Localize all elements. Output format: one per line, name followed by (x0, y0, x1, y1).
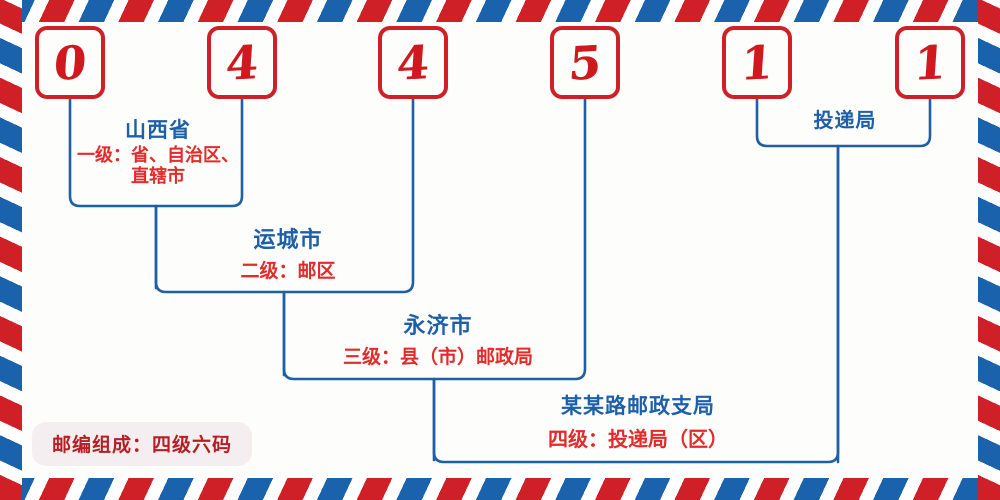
level-3-title: 永济市 (288, 308, 588, 340)
level-4-label-group: 某某路邮政支局 四级：投递局（区） (436, 390, 840, 452)
level-1-label-group: 山西省 一级：省、自治区、直辖市 (72, 114, 244, 187)
level-2-label-group: 运城市 二级：邮区 (160, 222, 416, 283)
postcode-digit-6: 1 (912, 39, 947, 87)
postcode-composition-badge: 邮编组成：四级六码 (32, 422, 252, 466)
postcode-digit-5: 1 (739, 39, 774, 87)
postcode-digit-4: 5 (567, 39, 602, 87)
postcode-digit-box-6[interactable]: 1 (895, 26, 965, 99)
delivery-office-label-group: 投递局 (760, 104, 930, 133)
postcode-digit-box-2[interactable]: 4 (207, 26, 277, 99)
level-1-title: 山西省 (72, 114, 244, 144)
level-3-label-group: 永济市 三级：县（市）邮政局 (288, 308, 588, 369)
level-2-title: 运城市 (160, 222, 416, 254)
postcode-digit-1: 0 (52, 39, 87, 87)
level-1-subtitle: 一级：省、自治区、直辖市 (72, 146, 244, 187)
postcode-digit-box-5[interactable]: 1 (722, 26, 792, 99)
level-4-title: 某某路邮政支局 (436, 390, 840, 420)
postcode-digit-3: 4 (395, 39, 430, 87)
delivery-office-label: 投递局 (760, 104, 930, 133)
postcode-diagram: 0 4 4 5 1 1 山西省 一级：省、自治区、直辖市 运城市 二级：邮区 永… (0, 0, 1000, 500)
postcode-digit-box-3[interactable]: 4 (378, 26, 448, 99)
level-2-subtitle: 二级：邮区 (160, 256, 416, 283)
postcode-digit-box-4[interactable]: 5 (550, 26, 620, 99)
postcode-digit-box-1[interactable]: 0 (35, 26, 105, 99)
postcode-digit-2: 4 (224, 39, 259, 87)
level-3-subtitle: 三级：县（市）邮政局 (288, 342, 588, 369)
level-4-subtitle: 四级：投递局（区） (436, 423, 840, 452)
postcode-composition-text: 邮编组成：四级六码 (52, 434, 232, 456)
